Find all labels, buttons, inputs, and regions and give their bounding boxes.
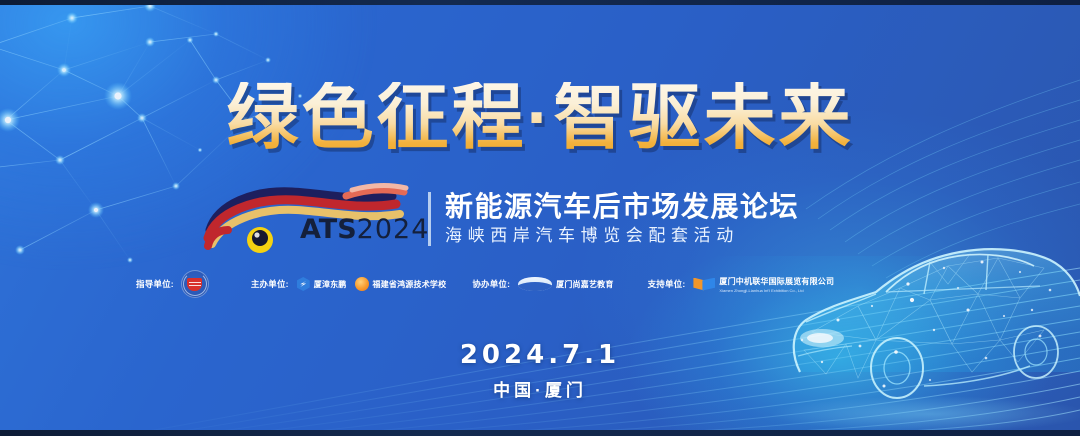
sponsor-name: 厦门中机联华国际展览有限公司 Xiamen Zhongji-Lianhua In… xyxy=(719,276,834,293)
sponsor-item: 厦漳东鹏 xyxy=(297,277,347,291)
sponsor-item: 福建省鸿源技术学校 xyxy=(355,277,447,291)
bottom-edge-rule xyxy=(0,430,1080,436)
sponsor-group-coorganizer: 协办单位: 厦门尚嘉艺教育 xyxy=(472,277,613,291)
ats-year: 2024 xyxy=(357,214,430,245)
host-logos: 厦漳东鹏 福建省鸿源技术学校 xyxy=(289,277,447,291)
sponsor-group-supporter: 支持单位: 厦门中机联华国际展览有限公司 Xiamen Zhongji-Lian… xyxy=(648,276,835,293)
sponsor-name: 福建省鸿源技术学校 xyxy=(373,279,447,290)
sponsor-name-en: Xiamen Zhongji-Lianhua Int'l Exhibition … xyxy=(719,288,834,293)
sponsor-name-cn: 厦门中机联华国际展览有限公司 xyxy=(719,277,834,286)
seal-mark xyxy=(187,278,202,291)
sponsor-name: 厦门尚嘉艺教育 xyxy=(556,279,613,290)
forum-event-affiliation: 海峡西岸汽车博览会配套活动 xyxy=(445,223,799,249)
sponsor-item: 厦门中机联华国际展览有限公司 Xiamen Zhongji-Lianhua In… xyxy=(693,276,834,293)
event-date: 2024.7.1 xyxy=(0,340,1080,370)
ats-logo-text: ATS2024 xyxy=(300,214,429,245)
subtitle-divider xyxy=(428,192,431,246)
sponsor-name: 厦漳东鹏 xyxy=(314,279,347,290)
logo-and-subtitle-band: ATS2024 新能源汽车后市场发展论坛 海峡西岸汽车博览会配套活动 xyxy=(196,180,896,258)
event-poster-banner: 绿色征程·智驱未来 ATS202 xyxy=(0,0,1080,436)
ats-logo: ATS2024 xyxy=(196,180,422,258)
event-location: 中国·厦门 xyxy=(0,376,1080,401)
page-title: 绿色征程·智驱未来 xyxy=(0,82,1080,154)
sponsor-item: 厦门尚嘉艺教育 xyxy=(518,277,613,291)
flag-arrow-icon xyxy=(693,277,715,292)
top-edge-rule xyxy=(0,0,1080,5)
sponsor-label-supporter: 支持单位: xyxy=(648,278,686,290)
orange-circle-icon xyxy=(355,277,369,291)
sponsor-label-guidance: 指导单位: xyxy=(136,278,174,290)
event-datetime-block: 2024.7.1 中国·厦门 xyxy=(0,340,1080,401)
swoosh-icon xyxy=(518,277,552,291)
sponsor-group-guidance: 指导单位: xyxy=(136,270,209,298)
subtitle-block: 新能源汽车后市场发展论坛 海峡西岸汽车博览会配套活动 xyxy=(445,190,799,249)
red-seal-emblem-icon xyxy=(181,270,209,298)
flag-right xyxy=(702,278,715,291)
poster-content: 绿色征程·智驱未来 ATS202 xyxy=(0,0,1080,436)
blue-hexagon-icon xyxy=(297,277,310,291)
sponsor-group-host: 主办单位: 厦漳东鹏 福建省鸿源技术学校 xyxy=(251,277,446,291)
forum-name: 新能源汽车后市场发展论坛 xyxy=(445,190,799,223)
sponsor-label-coorganizer: 协办单位: xyxy=(472,278,510,290)
sponsor-row: 指导单位: 主办单位: 厦漳东鹏 福建省鸿源技术学校 xyxy=(136,270,936,298)
sponsor-label-host: 主办单位: xyxy=(251,278,289,290)
ats-brand: ATS xyxy=(300,214,357,245)
